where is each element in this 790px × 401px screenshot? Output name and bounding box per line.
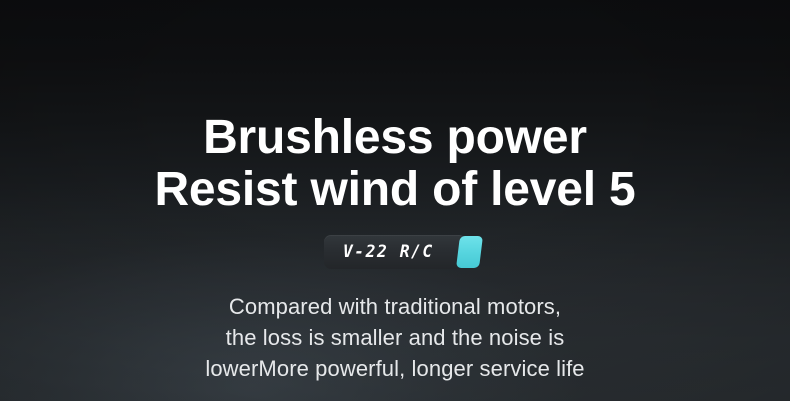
subtitle-block: Compared with traditional motors, the lo… [205, 291, 584, 384]
subtitle-line-1: Compared with traditional motors, [205, 291, 584, 322]
model-badge: V-22 R/C [324, 235, 466, 269]
headline-line-1: Brushless power [154, 112, 635, 164]
product-feature-banner: Brushless power Resist wind of level 5 V… [0, 0, 790, 401]
badge-accent-block [456, 236, 483, 268]
subtitle-line-2: the loss is smaller and the noise is [205, 322, 584, 353]
subtitle-line-3: lowerMore powerful, longer service life [205, 353, 584, 384]
headline-block: Brushless power Resist wind of level 5 [154, 112, 635, 216]
model-badge-plate: V-22 R/C [324, 235, 466, 269]
banner-content: Brushless power Resist wind of level 5 V… [0, 0, 790, 401]
headline-line-2: Resist wind of level 5 [154, 164, 635, 216]
model-badge-label: V-22 R/C [343, 244, 434, 261]
